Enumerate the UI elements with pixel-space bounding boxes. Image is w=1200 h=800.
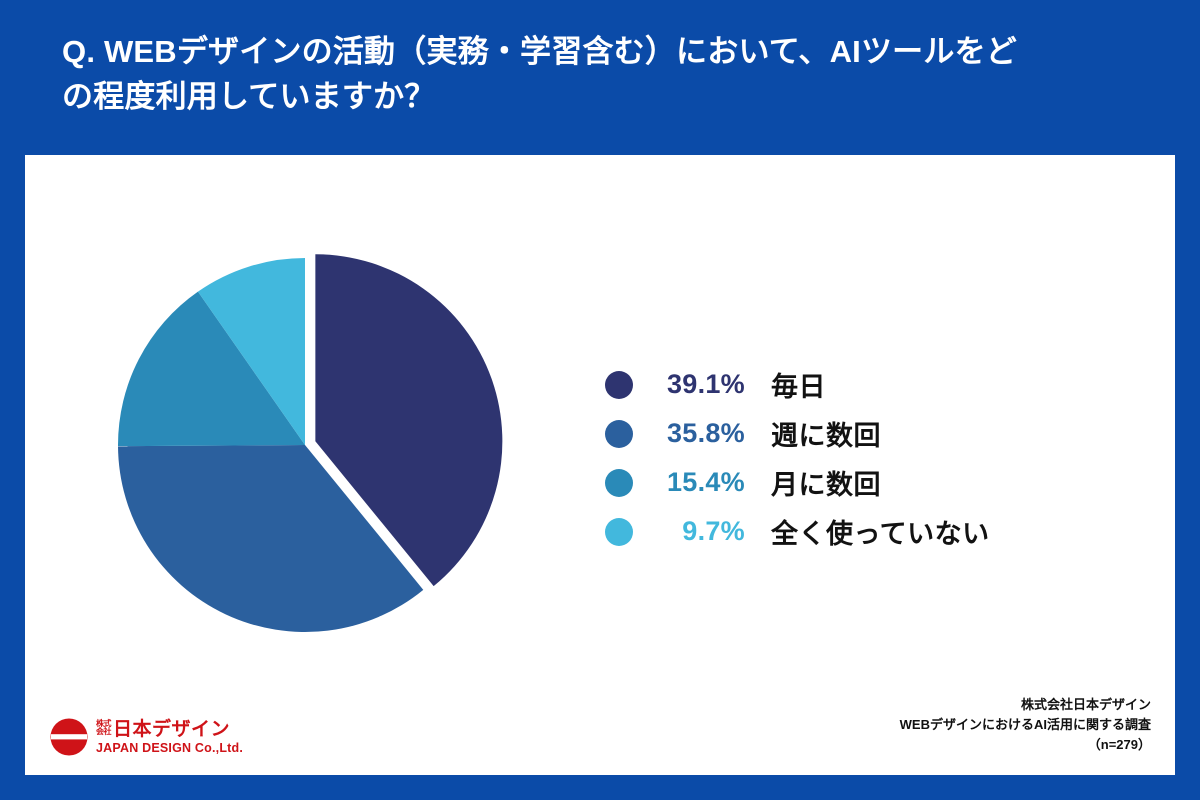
legend-value: 35.8% bbox=[633, 418, 751, 449]
pie-chart bbox=[105, 235, 525, 655]
legend-label: 週に数回 bbox=[751, 414, 1125, 453]
company-logo-icon bbox=[49, 717, 89, 757]
legend-label: 月に数回 bbox=[751, 463, 1125, 502]
legend-item[interactable]: 39.1% 毎日 bbox=[605, 360, 1125, 409]
legend-swatch-icon bbox=[605, 518, 633, 546]
chart-legend: 39.1% 毎日 35.8% 週に数回 15.4% 月に数回 9.7% 全く使っ… bbox=[605, 360, 1125, 556]
slide-header: Q. WEBデザインの活動（実務・学習含む）において、AIツールをど の程度利用… bbox=[0, 0, 1200, 152]
pie-chart-svg bbox=[105, 235, 525, 655]
legend-swatch-icon bbox=[605, 371, 633, 399]
brand-wordmark: 株式 会社 日本デザイン JAPAN DESIGN Co.,Ltd. bbox=[96, 720, 243, 755]
source-line-sample: （n=279） bbox=[900, 735, 1151, 755]
pie-slice-group bbox=[118, 254, 502, 632]
content-card: 39.1% 毎日 35.8% 週に数回 15.4% 月に数回 9.7% 全く使っ… bbox=[25, 155, 1175, 775]
legend-label: 全く使っていない bbox=[751, 512, 1125, 551]
brand-logo: 株式 会社 日本デザイン JAPAN DESIGN Co.,Ltd. bbox=[49, 717, 243, 757]
legend-item[interactable]: 9.7% 全く使っていない bbox=[605, 507, 1125, 556]
legend-value: 39.1% bbox=[633, 369, 751, 400]
legend-label: 毎日 bbox=[751, 365, 1125, 404]
brand-jp-line: 株式 会社 日本デザイン bbox=[96, 720, 243, 739]
brand-jp-name: 日本デザイン bbox=[113, 720, 230, 739]
legend-item[interactable]: 35.8% 週に数回 bbox=[605, 409, 1125, 458]
legend-value: 15.4% bbox=[633, 467, 751, 498]
brand-kabushiki: 株式 会社 bbox=[96, 720, 111, 739]
source-note: 株式会社日本デザイン WEBデザインにおけるAI活用に関する調査 （n=279） bbox=[900, 695, 1151, 755]
legend-item[interactable]: 15.4% 月に数回 bbox=[605, 458, 1125, 507]
legend-swatch-icon bbox=[605, 420, 633, 448]
source-line-survey: WEBデザインにおけるAI活用に関する調査 bbox=[900, 715, 1151, 735]
card-footer: 株式 会社 日本デザイン JAPAN DESIGN Co.,Ltd. 株式会社日… bbox=[25, 685, 1175, 775]
brand-en-name: JAPAN DESIGN Co.,Ltd. bbox=[96, 741, 243, 755]
source-line-company: 株式会社日本デザイン bbox=[900, 695, 1151, 715]
legend-swatch-icon bbox=[605, 469, 633, 497]
page-title: Q. WEBデザインの活動（実務・学習含む）において、AIツールをど の程度利用… bbox=[62, 30, 1145, 120]
legend-value: 9.7% bbox=[633, 516, 751, 547]
